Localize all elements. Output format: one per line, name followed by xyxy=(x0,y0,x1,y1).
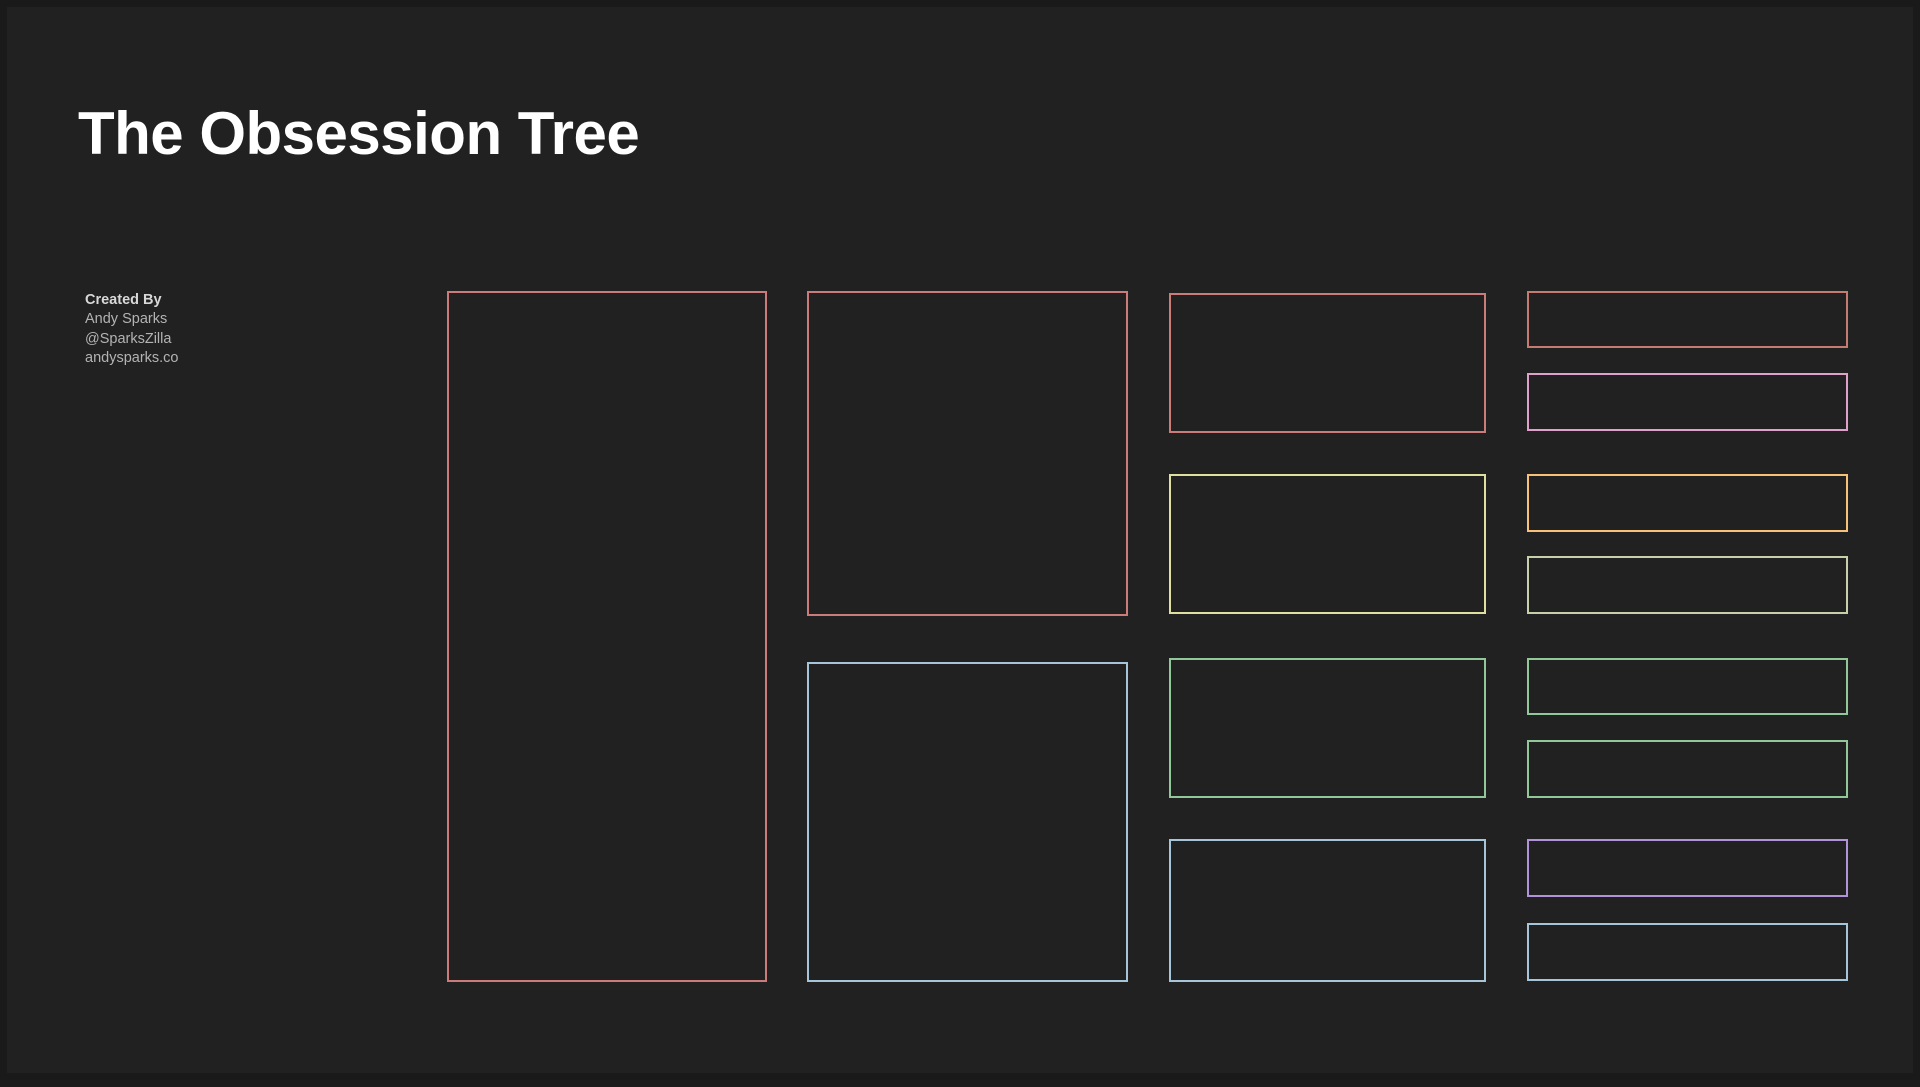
tree-node-2-2[interactable] xyxy=(807,662,1128,982)
column-2 xyxy=(807,7,1128,1087)
column-4 xyxy=(1527,7,1848,1087)
tree-node-3-3[interactable] xyxy=(1169,658,1486,798)
poster-canvas: The Obsession Tree Created By Andy Spark… xyxy=(0,0,1920,1080)
tree-node-4-7[interactable] xyxy=(1527,839,1848,897)
tree-node-3-2[interactable] xyxy=(1169,474,1486,614)
tree-node-2-1[interactable] xyxy=(807,291,1128,616)
column-1 xyxy=(447,7,767,1087)
obsession-tree-board xyxy=(7,7,1920,1087)
tree-node-4-8[interactable] xyxy=(1527,923,1848,981)
tree-node-4-6[interactable] xyxy=(1527,740,1848,798)
column-3 xyxy=(1169,7,1486,1087)
tree-node-4-5[interactable] xyxy=(1527,658,1848,715)
tree-node-3-4[interactable] xyxy=(1169,839,1486,982)
tree-node-1-1[interactable] xyxy=(447,291,767,982)
tree-node-4-4[interactable] xyxy=(1527,556,1848,614)
tree-node-4-1[interactable] xyxy=(1527,291,1848,348)
tree-node-4-3[interactable] xyxy=(1527,474,1848,532)
tree-node-3-1[interactable] xyxy=(1169,293,1486,433)
tree-node-4-2[interactable] xyxy=(1527,373,1848,431)
